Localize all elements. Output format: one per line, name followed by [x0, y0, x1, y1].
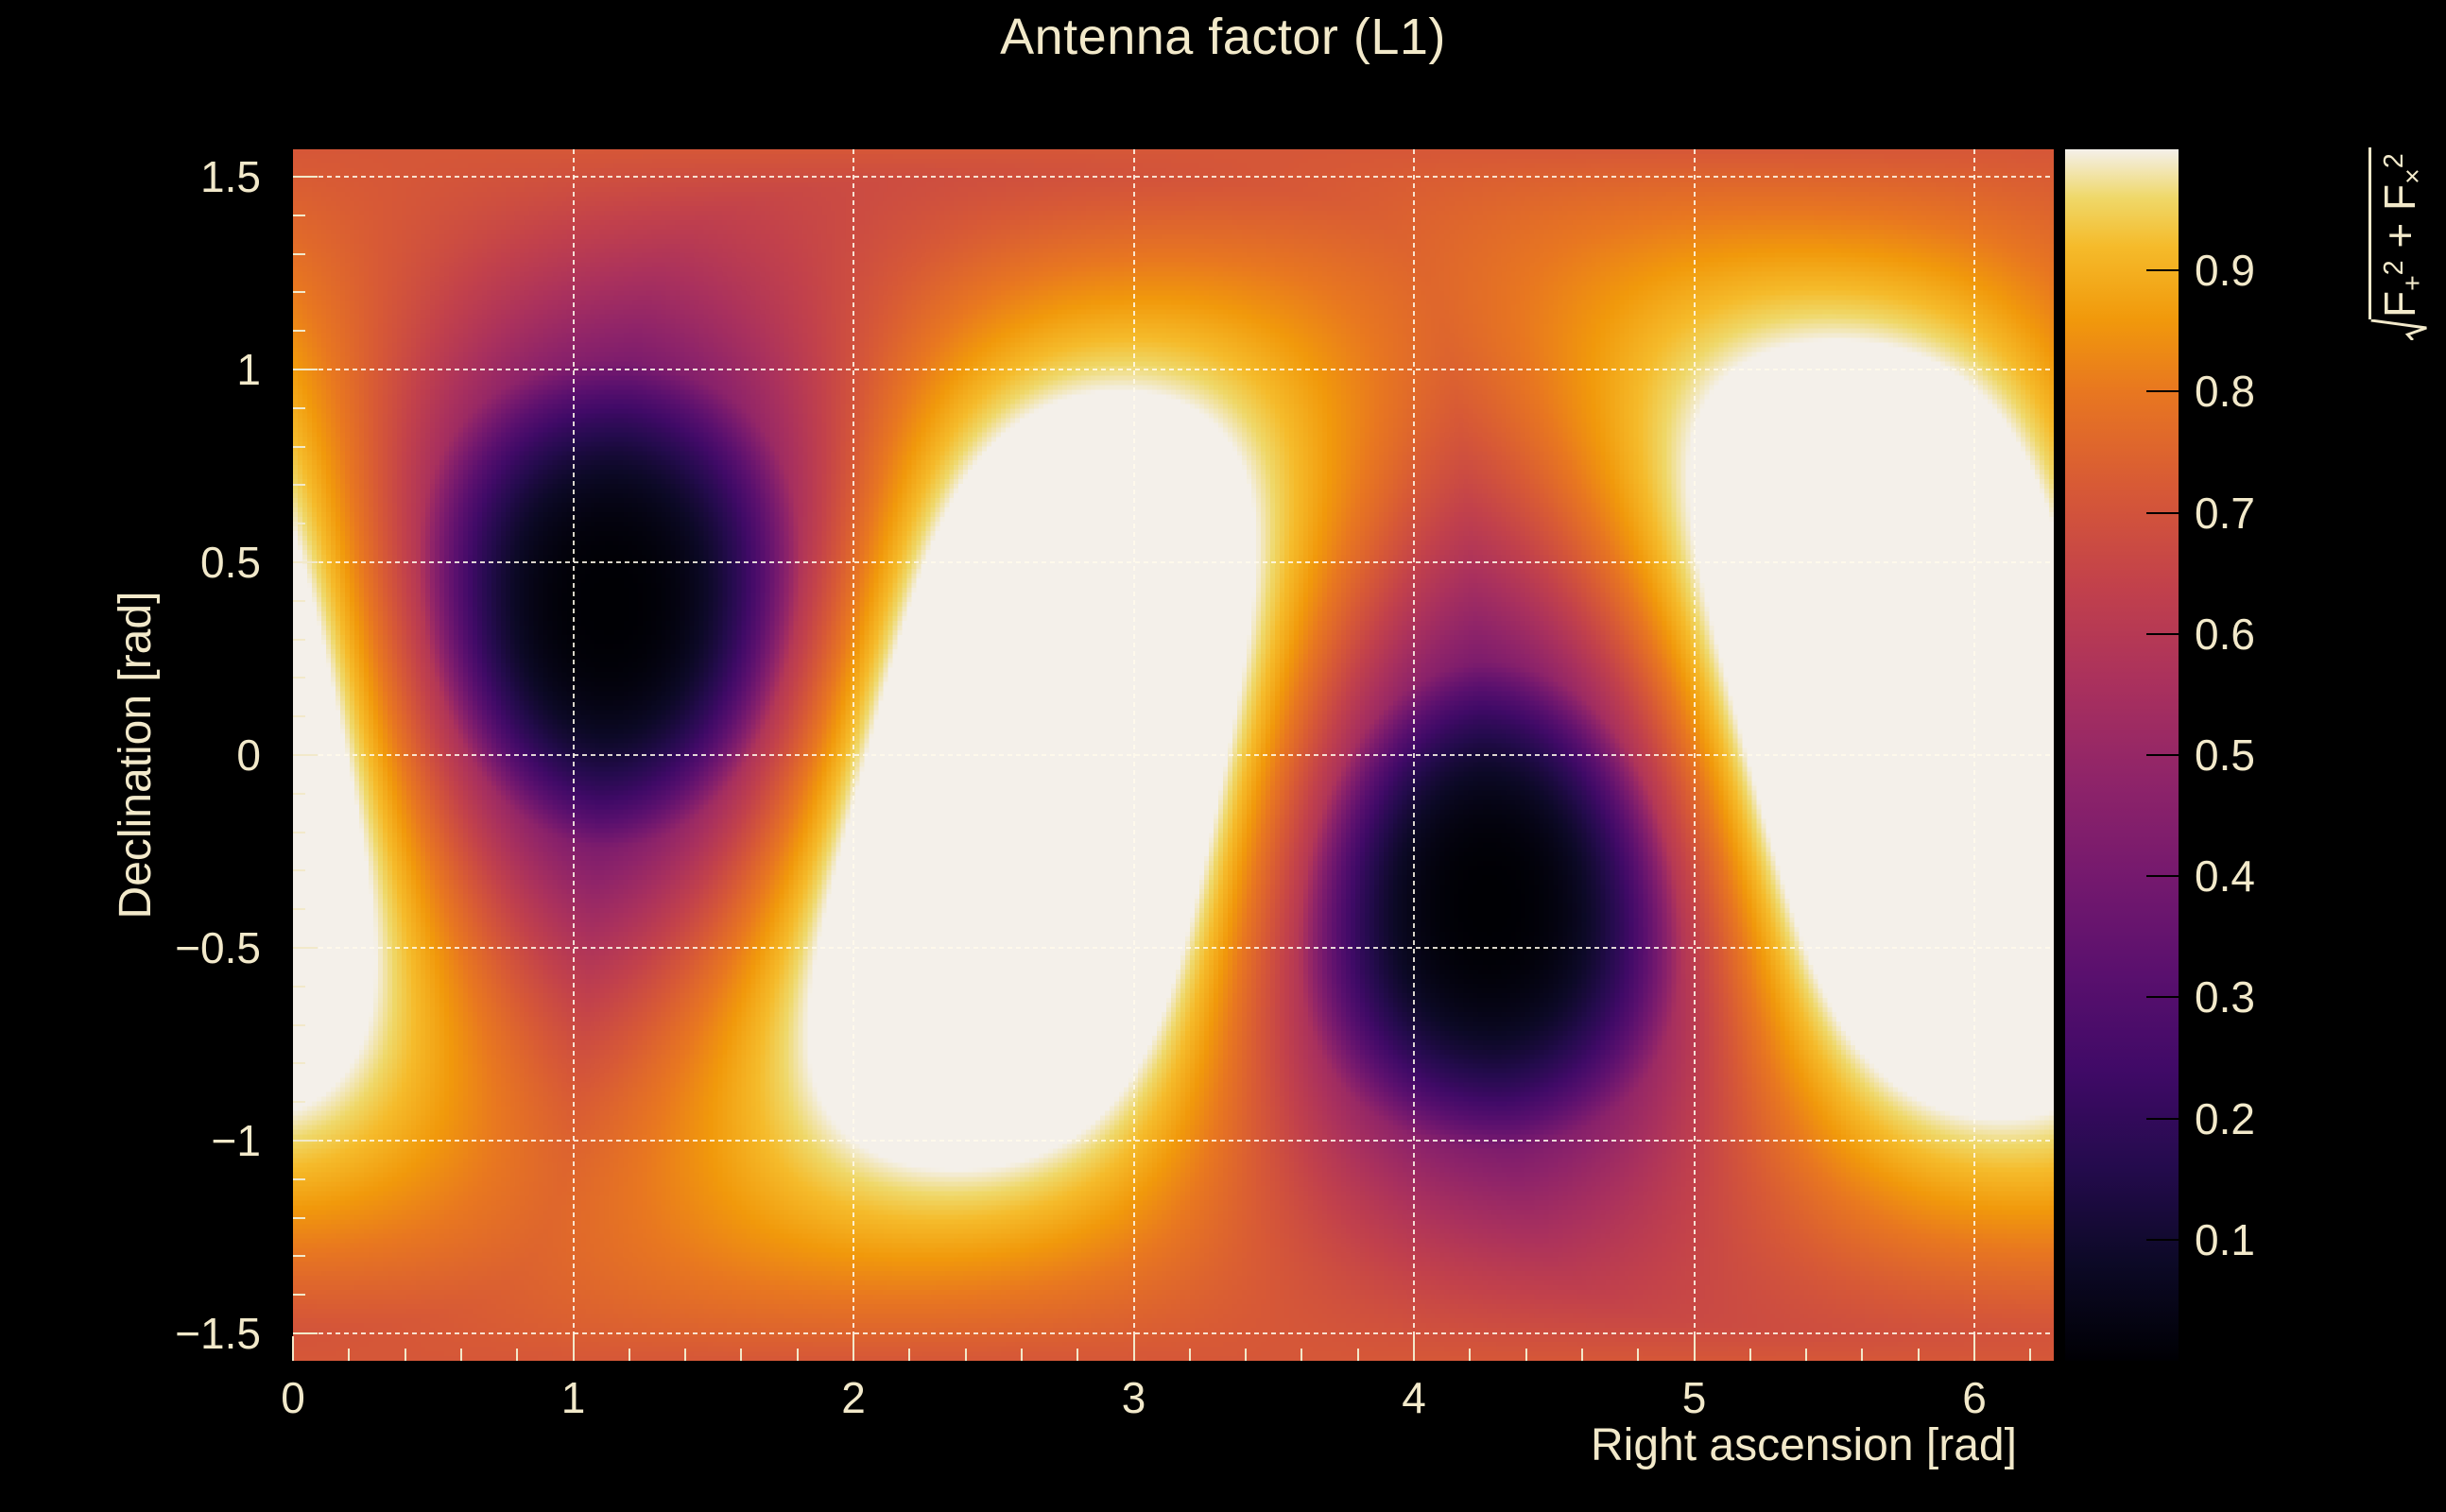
x-tick-minor	[1469, 1349, 1471, 1361]
x-tick-label-2: 2	[841, 1372, 866, 1423]
x-tick-label-3: 3	[1122, 1372, 1146, 1423]
f-plus-subscript: +	[2398, 275, 2428, 291]
colorbar-tick-label-1: 0.2	[2195, 1093, 2255, 1144]
y-tick-major-5	[293, 369, 318, 370]
x-tick-minor	[1189, 1349, 1191, 1361]
y-tick-minor	[293, 291, 305, 293]
f-cross-term: F	[2375, 184, 2424, 211]
y-tick-minor	[293, 869, 305, 871]
x-tick-minor	[1301, 1349, 1302, 1361]
x-tick-label-1: 1	[561, 1372, 586, 1423]
x-tick-major-6	[1973, 1336, 1975, 1361]
y-tick-minor	[293, 215, 305, 216]
plus-operator: +	[2375, 223, 2424, 249]
f-plus-exponent: 2	[2379, 260, 2409, 275]
y-tick-minor	[293, 1255, 305, 1257]
f-plus-term: F	[2375, 291, 2424, 318]
x-tick-minor	[348, 1349, 350, 1361]
y-tick-minor	[293, 253, 305, 255]
colorbar-tick-label-6: 0.7	[2195, 488, 2255, 539]
x-tick-minor	[908, 1349, 910, 1361]
x-tick-minor	[1525, 1349, 1527, 1361]
x-tick-minor	[1245, 1349, 1247, 1361]
y-tick-minor	[293, 407, 305, 409]
x-tick-minor	[516, 1349, 518, 1361]
y-tick-label-6: 1.5	[0, 151, 261, 202]
f-cross-subscript: ×	[2398, 168, 2428, 184]
y-tick-minor	[293, 1217, 305, 1219]
y-tick-minor	[293, 986, 305, 988]
x-axis-title: Right ascension [rad]	[1591, 1419, 2017, 1471]
y-tick-minor	[293, 677, 305, 679]
colorbar[interactable]	[2065, 149, 2179, 1361]
y-tick-minor	[293, 1024, 305, 1026]
colorbar-axis-title: F+2 + F×2	[2368, 147, 2428, 340]
sqrt-expression: F+2 + F×2	[2368, 147, 2428, 340]
x-tick-minor	[1077, 1349, 1078, 1361]
x-tick-minor	[740, 1349, 742, 1361]
x-tick-minor	[797, 1349, 799, 1361]
x-tick-minor	[629, 1349, 630, 1361]
x-tick-major-4	[1413, 1336, 1415, 1361]
y-tick-minor	[293, 446, 305, 448]
y-tick-major-1	[293, 1140, 318, 1142]
colorbar-tick-label-3: 0.4	[2195, 850, 2255, 902]
y-tick-minor	[293, 793, 305, 795]
colorbar-tick-label-4: 0.5	[2195, 730, 2255, 781]
y-tick-minor	[293, 715, 305, 717]
colorbar-gradient	[2065, 149, 2179, 1361]
root-canvas: Antenna factor (L1) Declination [rad] Ri…	[0, 0, 2446, 1512]
x-tick-major-5	[1694, 1336, 1696, 1361]
x-tick-label-0: 0	[281, 1372, 305, 1423]
x-tick-minor	[1749, 1349, 1751, 1361]
y-tick-minor	[293, 1294, 305, 1296]
x-tick-minor	[1021, 1349, 1023, 1361]
x-tick-major-3	[1133, 1336, 1135, 1361]
y-tick-minor	[293, 523, 305, 524]
y-tick-major-0	[293, 1332, 318, 1334]
y-tick-label-1: −1	[0, 1115, 261, 1166]
page-title: Antenna factor (L1)	[0, 8, 2446, 66]
y-tick-minor	[293, 832, 305, 833]
y-tick-minor	[293, 908, 305, 910]
heatmap-plot-area[interactable]	[293, 149, 2054, 1361]
x-tick-label-5: 5	[1682, 1372, 1707, 1423]
heatmap-image	[293, 149, 2054, 1361]
y-tick-label-3: 0	[0, 730, 261, 781]
y-tick-minor	[293, 1178, 305, 1180]
y-tick-major-3	[293, 754, 318, 756]
y-tick-major-6	[293, 176, 318, 178]
x-tick-minor	[1637, 1349, 1639, 1361]
f-cross-exponent: 2	[2379, 153, 2409, 168]
x-tick-minor	[1805, 1349, 1807, 1361]
colorbar-tick-label-2: 0.3	[2195, 971, 2255, 1022]
x-tick-major-0	[292, 1336, 294, 1361]
y-tick-minor	[293, 600, 305, 602]
y-tick-major-4	[293, 561, 318, 563]
x-tick-minor	[1861, 1349, 1863, 1361]
x-tick-label-6: 6	[1962, 1372, 1987, 1423]
colorbar-tick-label-8: 0.9	[2195, 245, 2255, 296]
y-tick-minor	[293, 639, 305, 641]
y-tick-minor	[293, 330, 305, 332]
y-tick-minor	[293, 1062, 305, 1064]
x-tick-major-1	[573, 1336, 575, 1361]
radicand: F+2 + F×2	[2368, 147, 2428, 319]
y-tick-label-5: 1	[0, 344, 261, 395]
colorbar-tick-label-7: 0.8	[2195, 366, 2255, 417]
y-tick-label-0: −1.5	[0, 1308, 261, 1359]
y-tick-minor	[293, 484, 305, 486]
x-tick-minor	[2029, 1349, 2031, 1361]
x-tick-minor	[460, 1349, 462, 1361]
y-tick-major-2	[293, 947, 318, 949]
y-tick-label-2: −0.5	[0, 922, 261, 973]
x-tick-major-2	[853, 1336, 854, 1361]
colorbar-tick-label-5: 0.6	[2195, 609, 2255, 660]
x-tick-minor	[1918, 1349, 1920, 1361]
x-tick-minor	[1581, 1349, 1583, 1361]
x-tick-label-4: 4	[1402, 1372, 1426, 1423]
x-tick-minor	[684, 1349, 686, 1361]
x-tick-minor	[965, 1349, 967, 1361]
colorbar-tick-label-0: 0.1	[2195, 1214, 2255, 1265]
x-tick-minor	[405, 1349, 406, 1361]
radical-sign-icon	[2368, 319, 2428, 340]
x-tick-minor	[1357, 1349, 1359, 1361]
y-tick-minor	[293, 1101, 305, 1103]
y-tick-label-4: 0.5	[0, 537, 261, 588]
